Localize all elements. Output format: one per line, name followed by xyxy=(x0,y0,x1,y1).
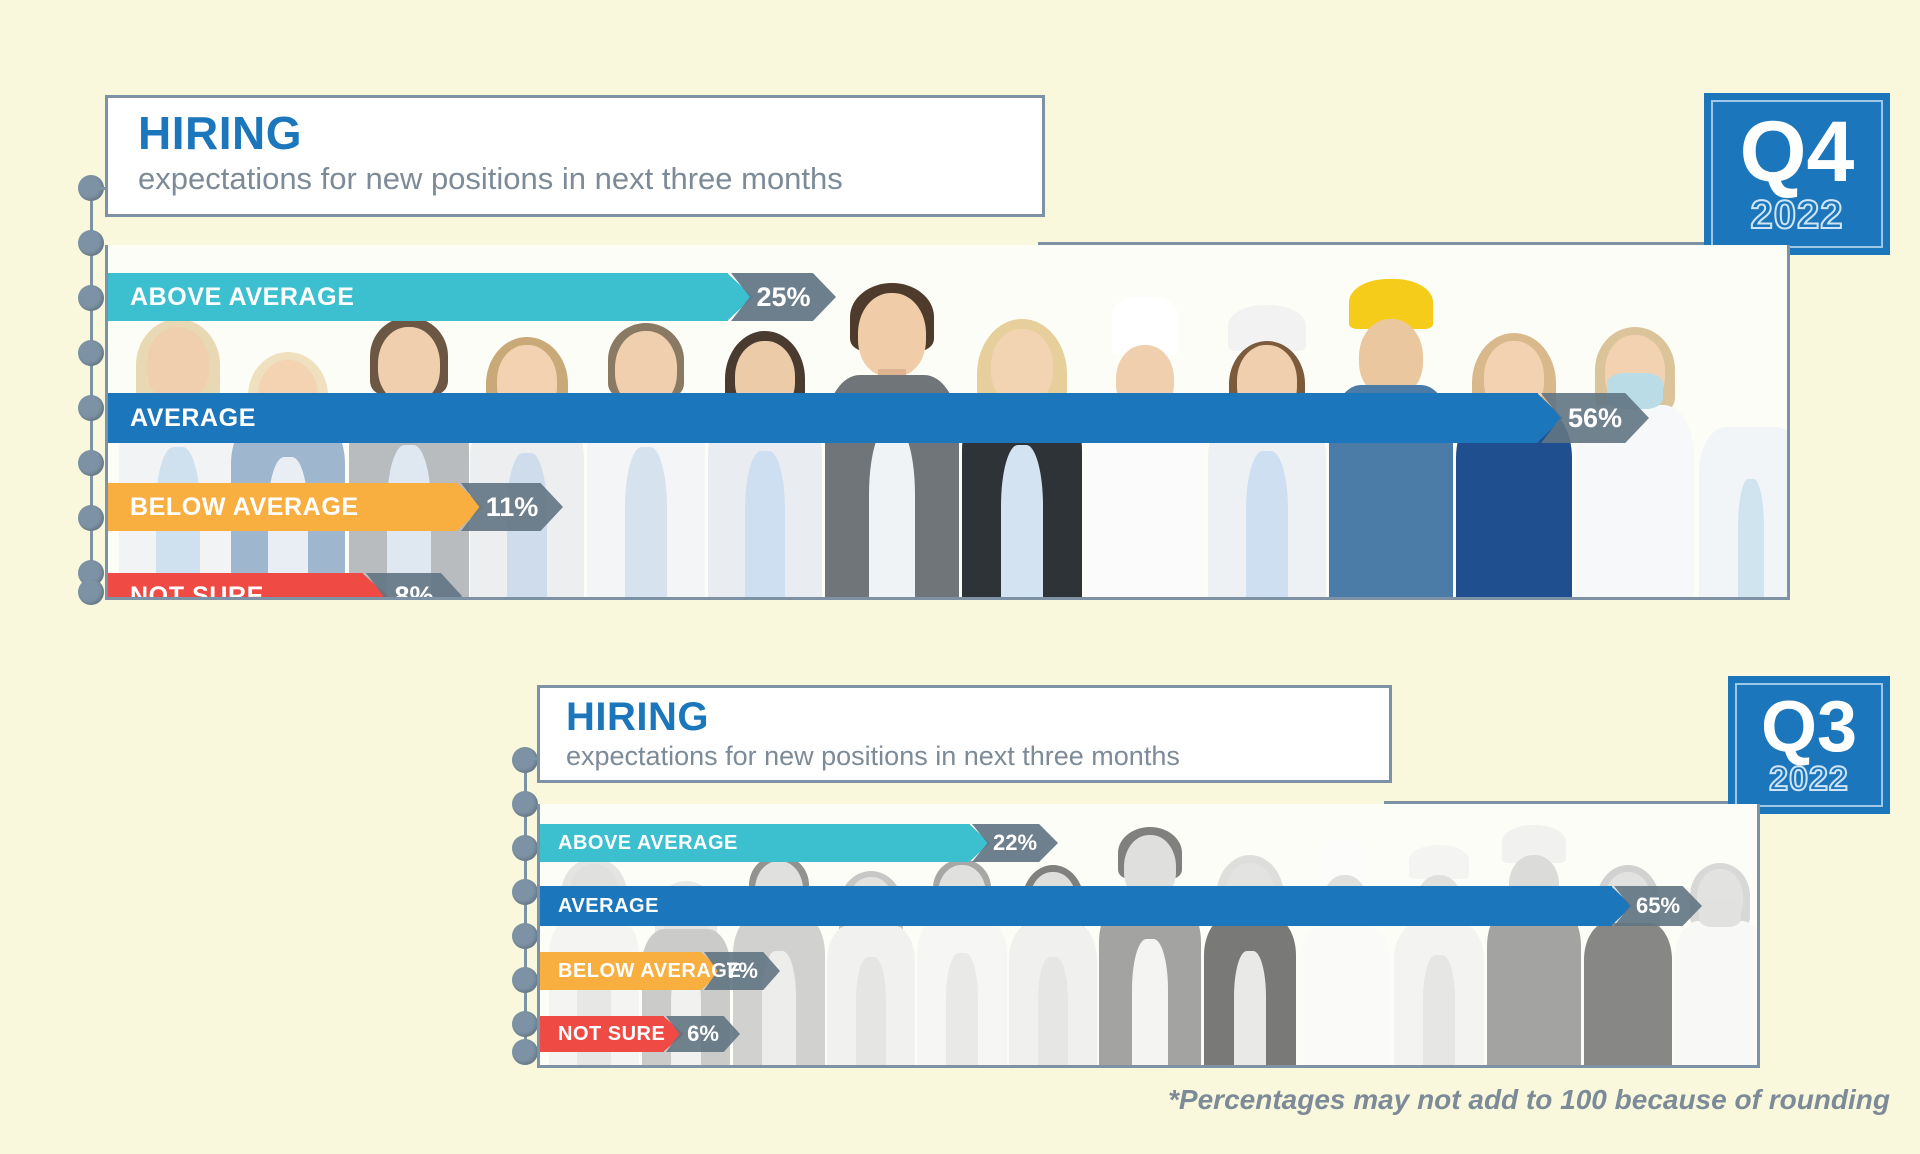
bar-above-average-q4: ABOVE AVERAGE xyxy=(108,273,728,321)
person-figure xyxy=(468,307,586,597)
bar-row-above-average-q3: ABOVE AVERAGE 22% xyxy=(540,824,1058,862)
bar-average-q3: AVERAGE xyxy=(540,886,1612,926)
quarter-badge-q3: Q3 2022 xyxy=(1728,676,1890,814)
quarter-badge-q4: Q4 2022 xyxy=(1704,93,1890,255)
header-box-q4: HIRING expectations for new positions in… xyxy=(105,95,1045,217)
header-box-q3: HIRING expectations for new positions in… xyxy=(537,685,1392,783)
person-figure xyxy=(960,297,1084,597)
left-rail-q3 xyxy=(512,747,538,1065)
footnote-rounding-note: *Percentages may not add to 100 because … xyxy=(1168,1084,1890,1116)
rail-dot xyxy=(78,579,104,605)
bar-below-average-q3: BELOW AVERAGE xyxy=(540,952,702,990)
person-figure xyxy=(1084,297,1206,597)
panel-q3-2022: HIRING expectations for new positions in… xyxy=(512,685,1890,1080)
bar-label-above-average: ABOVE AVERAGE xyxy=(558,832,738,855)
chart-plate-q4: ABOVE AVERAGE 25% AVERAGE 56% BELOW AVER… xyxy=(105,245,1790,600)
person-figure xyxy=(1674,843,1757,1065)
rail-dot xyxy=(512,1011,538,1037)
bar-label-not-sure: NOT SURE xyxy=(130,582,264,601)
badge-year-label: 2022 xyxy=(1751,195,1844,235)
rail-dot xyxy=(78,395,104,421)
header-subtitle: expectations for new positions in next t… xyxy=(138,162,1042,196)
rail-dot xyxy=(512,791,538,817)
rail-dot xyxy=(512,835,538,861)
person-figure xyxy=(826,847,916,1065)
rail-dot xyxy=(78,450,104,476)
badge-year-label: 2022 xyxy=(1769,762,1849,796)
bar-row-not-sure-q3: NOT SURE 6% xyxy=(540,1016,740,1052)
person-figure xyxy=(1454,305,1574,597)
bar-label-average: AVERAGE xyxy=(130,404,256,433)
face-mask-icon xyxy=(1699,899,1741,927)
person-figure xyxy=(1206,297,1328,597)
rail-dot xyxy=(512,879,538,905)
person-figure xyxy=(1574,301,1696,597)
bar-above-average-q3: ABOVE AVERAGE xyxy=(540,824,970,862)
person-figure xyxy=(1582,845,1674,1065)
person-figure xyxy=(118,297,238,597)
person-figure xyxy=(1202,839,1298,1065)
page-title: HIRING xyxy=(566,697,1389,737)
bar-label-below-average: BELOW AVERAGE xyxy=(130,493,359,522)
bar-row-below-average-q3: BELOW AVERAGE 7% xyxy=(540,952,780,990)
bar-label-above-average: ABOVE AVERAGE xyxy=(130,283,355,312)
rail-dot xyxy=(512,923,538,949)
bar-not-sure-q4: NOT SURE xyxy=(108,573,363,600)
bar-average-q4: AVERAGE xyxy=(108,393,1538,443)
bar-below-average-q4: BELOW AVERAGE xyxy=(108,483,458,531)
bar-row-average-q4: AVERAGE 56% xyxy=(108,393,1649,443)
person-figure xyxy=(1098,825,1202,1065)
rail-dot xyxy=(512,747,538,773)
bar-label-below-average: BELOW AVERAGE xyxy=(558,960,741,983)
bar-row-average-q3: AVERAGE 65% xyxy=(540,886,1702,926)
hard-hat-icon xyxy=(1409,845,1469,879)
bar-row-below-average-q4: BELOW AVERAGE 11% xyxy=(108,483,563,531)
page-title: HIRING xyxy=(138,110,1042,156)
rail-dot xyxy=(78,230,104,256)
rail-dot xyxy=(512,1039,538,1065)
person-figure xyxy=(706,305,824,597)
panel-q4-2022: HIRING expectations for new positions in… xyxy=(78,95,1890,615)
chart-plate-q3: ABOVE AVERAGE 22% AVERAGE 65% BELOW AVER… xyxy=(537,804,1760,1068)
person-figure xyxy=(916,841,1008,1065)
person-figure xyxy=(586,299,706,597)
rail-dot xyxy=(512,967,538,993)
bar-label-average: AVERAGE xyxy=(558,895,659,918)
person-figure xyxy=(1696,347,1787,597)
bar-row-not-sure-q4: NOT SURE 8% xyxy=(108,573,462,600)
bar-not-sure-q3: NOT SURE xyxy=(540,1016,664,1052)
person-figure xyxy=(1392,839,1486,1065)
rail-dot xyxy=(78,285,104,311)
person-figure xyxy=(1486,825,1582,1065)
bar-row-above-average-q4: ABOVE AVERAGE 25% xyxy=(108,273,836,321)
person-figure xyxy=(348,297,470,597)
rail-dot xyxy=(78,505,104,531)
badge-quarter-label: Q4 xyxy=(1740,113,1855,192)
badge-quarter-label: Q3 xyxy=(1761,694,1857,760)
header-subtitle: expectations for new positions in next t… xyxy=(566,742,1389,772)
rail-dot xyxy=(78,340,104,366)
person-figure xyxy=(1008,845,1098,1065)
person-figure xyxy=(1298,839,1392,1065)
left-rail-q4 xyxy=(78,175,104,605)
bar-label-not-sure: NOT SURE xyxy=(558,1023,665,1046)
person-figure xyxy=(228,312,348,597)
